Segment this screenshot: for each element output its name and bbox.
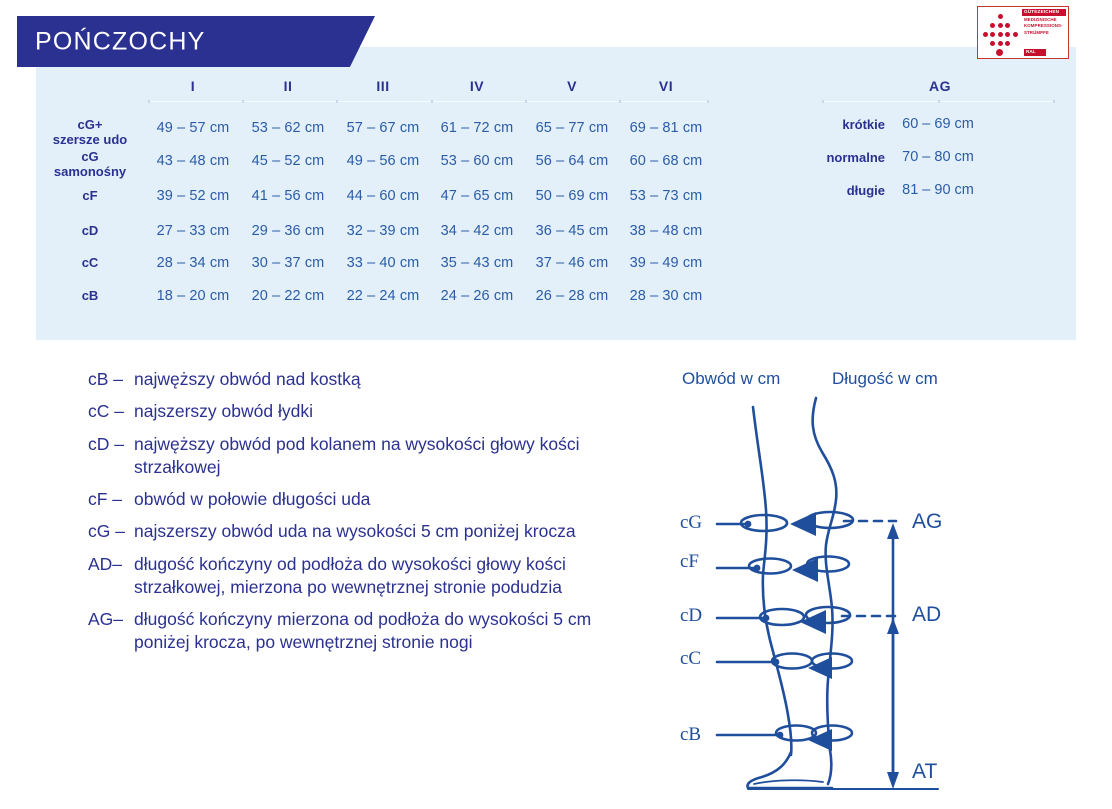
table-cell: 24 – 26 cm (441, 288, 514, 304)
ral-logo-line1: GÜTEZEICHEN (1022, 9, 1066, 16)
column-header-AG: AG (929, 78, 951, 94)
ag-table-header-divider (822, 101, 1054, 102)
legend-item-ad: AD– długość kończyny od podłoża do wysok… (88, 553, 648, 600)
sole-line (754, 780, 823, 784)
table-cell: 28 – 30 cm (630, 288, 703, 304)
legend-desc: najszerszy obwód łydki (134, 400, 648, 423)
table-cell: 36 – 45 cm (536, 223, 609, 239)
ag-row-label-normalne: normalne (765, 150, 885, 165)
table-cell: 39 – 49 cm (630, 255, 703, 271)
table-cell: 65 – 77 cm (536, 120, 609, 136)
legend-item-cd: cD – najwęższy obwód pod kolanem na wyso… (88, 433, 648, 480)
table-cell: 28 – 34 cm (157, 255, 230, 271)
ag-row-label-krotkie: krótkie (765, 117, 885, 132)
legend-desc: najwęższy obwód pod kolanem na wysokości… (134, 433, 648, 480)
leader-dot-cd (763, 615, 770, 622)
table-cell: 18 – 20 cm (157, 288, 230, 304)
column-header-I: I (191, 78, 195, 94)
table-header-divider (148, 101, 708, 102)
legend-item-ag: AG– długość kończyny mierzona od podłoża… (88, 608, 648, 655)
table-cell: 32 – 39 cm (347, 223, 420, 239)
page-title-banner: POŃCZOCHY (17, 16, 375, 67)
leader-dot-cb (777, 732, 784, 739)
ag-row-value-dlugie: 81 – 90 cm (902, 182, 974, 198)
ral-logo-line3: KOMPRESSIONS- (1022, 23, 1066, 29)
legend-desc: długość kończyny mierzona od podłoża do … (134, 608, 648, 655)
table-cell: 53 – 62 cm (252, 120, 325, 136)
legend-desc: obwód w połowie długości uda (134, 488, 648, 511)
row-label-cg-plus-line2: szersze udo (53, 132, 127, 147)
table-cell: 45 – 52 cm (252, 153, 325, 169)
row-label-cg-plus-line1: cG+ (78, 117, 103, 132)
ag-row-label-dlugie: długie (765, 183, 885, 198)
legend-item-cb: cB – najwęższy obwód nad kostką (88, 368, 648, 391)
table-cell: 60 – 68 cm (630, 153, 703, 169)
arrowhead-cg (790, 512, 816, 536)
table-cell: 49 – 56 cm (347, 153, 420, 169)
table-cell: 26 – 28 cm (536, 288, 609, 304)
legend-item-cf: cF – obwód w połowie długości uda (88, 488, 648, 511)
column-header-II: II (284, 78, 293, 94)
table-cell: 41 – 56 cm (252, 188, 325, 204)
ag-row-value-normalne: 70 – 80 cm (902, 149, 974, 165)
table-cell: 57 – 67 cm (347, 120, 420, 136)
row-label-cg-plus: cG+ szersze udo (20, 118, 160, 147)
ad-arrow-up (887, 618, 899, 634)
table-cell: 61 – 72 cm (441, 120, 514, 136)
leader-dot-cg (745, 521, 752, 528)
table-cell: 20 – 22 cm (252, 288, 325, 304)
column-header-IV: IV (470, 78, 484, 94)
row-label-cg-line1: cG (81, 149, 98, 164)
legend-desc: najszerszy obwód uda na wysokości 5 cm p… (134, 520, 648, 543)
row-label-cd: cD (20, 224, 160, 239)
ag-arrow-up (887, 523, 899, 539)
ral-guetezeichen-logo: GÜTEZEICHEN MEDIZINISCHE KOMPRESSIONS- S… (977, 6, 1069, 59)
row-label-cf: cF (20, 189, 160, 204)
leg-front-contour (753, 407, 791, 755)
table-cell: 37 – 46 cm (536, 255, 609, 271)
table-cell: 39 – 52 cm (157, 188, 230, 204)
arrowhead-cf (792, 558, 818, 582)
table-cell: 47 – 65 cm (441, 188, 514, 204)
page-title: POŃCZOCHY (35, 27, 206, 56)
table-cell: 50 – 69 cm (536, 188, 609, 204)
legend-item-cg: cG – najszerszy obwód uda na wysokości 5… (88, 520, 648, 543)
table-cell: 43 – 48 cm (157, 153, 230, 169)
table-cell: 49 – 57 cm (157, 120, 230, 136)
legend-key: AG– (88, 608, 134, 655)
ral-dot-pattern-icon (978, 7, 1022, 58)
ag-row-value-krotkie: 60 – 69 cm (902, 116, 974, 132)
ral-logo-line2: MEDIZINISCHE (1022, 17, 1066, 23)
table-cell: 22 – 24 cm (347, 288, 420, 304)
table-cell: 29 – 36 cm (252, 223, 325, 239)
leader-dot-cf (754, 565, 761, 572)
table-cell: 53 – 60 cm (441, 153, 514, 169)
legend-desc: najwęższy obwód nad kostką (134, 368, 648, 391)
table-cell: 30 – 37 cm (252, 255, 325, 271)
table-cell: 53 – 73 cm (630, 188, 703, 204)
row-label-cg: cG samonośny (20, 150, 160, 179)
leg-diagram-svg (660, 360, 1112, 809)
legend-key: cC – (88, 400, 134, 423)
legend-list: cB – najwęższy obwód nad kostką cC – naj… (88, 368, 648, 664)
ag-arrow-down (887, 772, 899, 789)
column-header-III: III (376, 78, 389, 94)
row-label-cc: cC (20, 256, 160, 271)
ral-logo-line4: STRÜMPFE (1022, 30, 1066, 36)
legend-key: AD– (88, 553, 134, 600)
column-header-VI: VI (659, 78, 673, 94)
arrowhead-cd (800, 610, 826, 634)
table-cell: 38 – 48 cm (630, 223, 703, 239)
table-cell: 27 – 33 cm (157, 223, 230, 239)
legend-item-cc: cC – najszerszy obwód łydki (88, 400, 648, 423)
legend-key: cG – (88, 520, 134, 543)
row-label-cb: cB (20, 289, 160, 304)
column-header-V: V (567, 78, 577, 94)
table-cell: 35 – 43 cm (441, 255, 514, 271)
legend-key: cB – (88, 368, 134, 391)
table-cell: 44 – 60 cm (347, 188, 420, 204)
legend-desc: długość kończyny od podłoża do wysokości… (134, 553, 648, 600)
heel-outline (828, 750, 831, 784)
table-cell: 33 – 40 cm (347, 255, 420, 271)
legend-key: cF – (88, 488, 134, 511)
legend-key: cD – (88, 433, 134, 480)
leg-measurement-diagram: Obwód w cm Długość w cm cG cF cD cC cB A… (660, 360, 1112, 809)
leader-dot-cc (773, 659, 780, 666)
ral-logo-line5: RAL (1024, 49, 1046, 56)
table-cell: 34 – 42 cm (441, 223, 514, 239)
table-cell: 69 – 81 cm (630, 120, 703, 136)
table-cell: 56 – 64 cm (536, 153, 609, 169)
row-label-cg-line2: samonośny (54, 164, 126, 179)
